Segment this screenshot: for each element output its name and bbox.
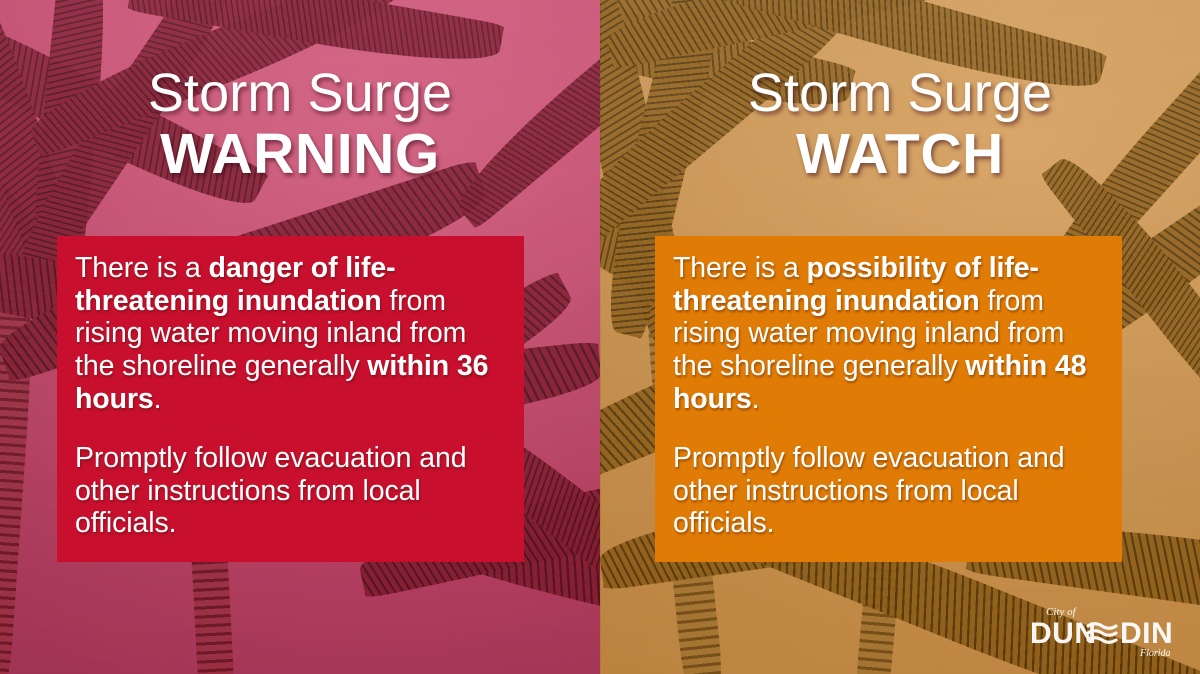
text-part: There is a — [75, 252, 209, 284]
logo-florida-text: Florida — [1139, 648, 1171, 659]
headline-line-1: Storm Surge — [0, 66, 600, 120]
watch-headline: Storm Surge WATCH — [600, 66, 1200, 183]
text-part: There is a — [673, 252, 807, 284]
storm-surge-watch-panel: Storm Surge WATCH There is a possibility… — [600, 0, 1200, 674]
warning-headline: Storm Surge WARNING — [0, 66, 600, 183]
watch-message-box: There is a possibility of life-threateni… — [655, 236, 1122, 562]
text-part: . — [752, 383, 760, 415]
storm-surge-infographic: Storm Surge WARNING There is a danger of… — [0, 0, 1200, 674]
headline-line-2: WARNING — [0, 126, 600, 183]
headline-line-2: WATCH — [600, 126, 1200, 183]
watch-paragraph-1: There is a possibility of life-threateni… — [673, 252, 1100, 415]
headline-line-1: Storm Surge — [600, 66, 1200, 120]
city-of-dunedin-logo: City of DUN DIN Florida — [1028, 602, 1178, 660]
text-part: . — [154, 383, 162, 415]
watch-paragraph-2: Promptly follow evacuation and other ins… — [673, 442, 1100, 540]
warning-paragraph-2: Promptly follow evacuation and other ins… — [75, 442, 502, 540]
panel-divider — [600, 0, 601, 674]
logo-dunedin-after: DIN — [1120, 617, 1173, 650]
warning-paragraph-1: There is a danger of life-threatening in… — [75, 252, 502, 415]
storm-surge-warning-panel: Storm Surge WARNING There is a danger of… — [0, 0, 600, 674]
warning-message-box: There is a danger of life-threatening in… — [57, 236, 524, 562]
